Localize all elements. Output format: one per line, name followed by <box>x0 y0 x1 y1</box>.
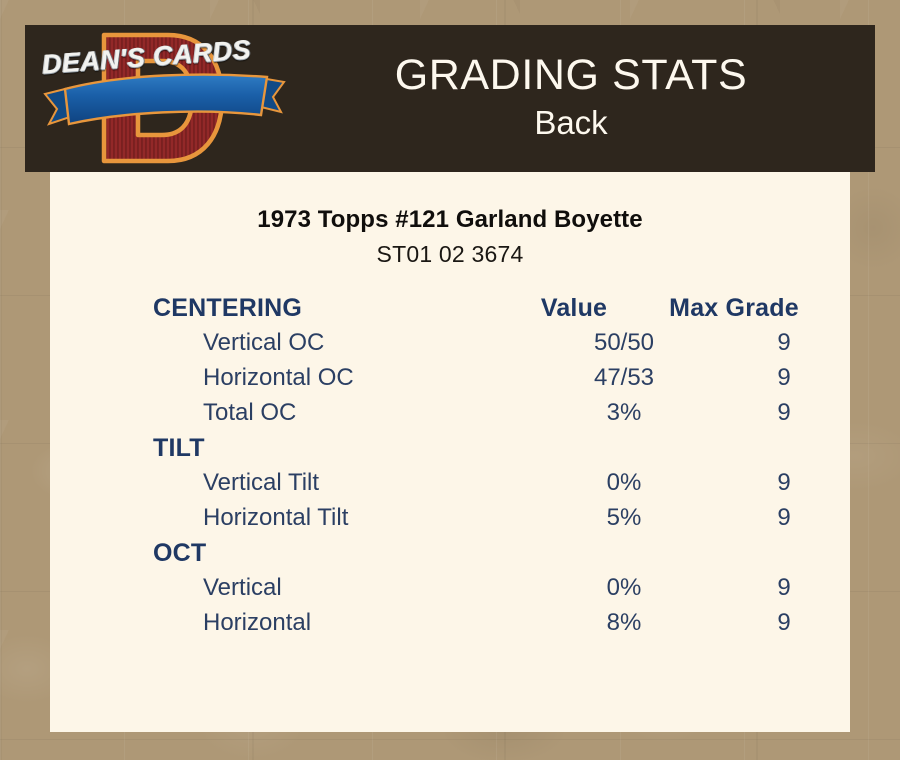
stats-row: Horizontal8%9 <box>153 609 798 644</box>
grading-stats-table: CENTERINGValueMax GradeVertical OC50/509… <box>50 294 850 644</box>
card-title: 1973 Topps #121 Garland Boyette <box>50 206 850 234</box>
card-heading: 1973 Topps #121 Garland Boyette ST01 02 … <box>50 172 850 268</box>
stats-row: Vertical OC50/509 <box>153 329 798 364</box>
stats-row: Vertical0%9 <box>153 574 798 609</box>
stats-row: Horizontal Tilt5%9 <box>153 504 798 539</box>
header-bar: DEAN'S CARDS GRADING STATS Back <box>25 25 875 172</box>
logo-banner-icon <box>43 72 286 134</box>
stat-label: Total OC <box>153 399 548 427</box>
stats-section-header: TILT <box>153 434 798 469</box>
header-title-block: GRADING STATS Back <box>293 50 875 148</box>
stat-label: Horizontal OC <box>153 364 548 392</box>
stat-max-grade: 9 <box>700 329 868 357</box>
stats-section-header: OCT <box>153 539 798 574</box>
column-header-value: Value <box>498 294 650 323</box>
section-label: CENTERING <box>153 294 498 323</box>
stat-max-grade: 9 <box>700 364 868 392</box>
stats-row: Horizontal OC47/539 <box>153 364 798 399</box>
stat-value: 50/50 <box>548 329 700 357</box>
stat-value: 0% <box>548 469 700 497</box>
stat-label: Vertical OC <box>153 329 548 357</box>
stat-max-grade: 9 <box>700 504 868 532</box>
page-title: GRADING STATS <box>293 50 849 100</box>
stat-value: 47/53 <box>548 364 700 392</box>
column-header-max-grade: Max Grade <box>650 294 818 323</box>
stat-max-grade: 9 <box>700 609 868 637</box>
section-label: OCT <box>153 539 498 568</box>
stat-max-grade: 9 <box>700 574 868 602</box>
stat-value: 5% <box>548 504 700 532</box>
card-serial-number: ST01 02 3674 <box>50 241 850 268</box>
stats-row: Total OC3%9 <box>153 399 798 434</box>
stat-label: Vertical <box>153 574 548 602</box>
content-panel: 1973 Topps #121 Garland Boyette ST01 02 … <box>50 172 850 732</box>
stat-value: 0% <box>548 574 700 602</box>
section-label: TILT <box>153 434 498 463</box>
stat-value: 8% <box>548 609 700 637</box>
stat-label: Vertical Tilt <box>153 469 548 497</box>
stat-label: Horizontal <box>153 609 548 637</box>
stats-section-header: CENTERINGValueMax Grade <box>153 294 798 329</box>
stat-max-grade: 9 <box>700 399 868 427</box>
stats-row: Vertical Tilt0%9 <box>153 469 798 504</box>
page-subtitle: Back <box>293 102 849 144</box>
stat-max-grade: 9 <box>700 469 868 497</box>
deans-cards-logo[interactable]: DEAN'S CARDS <box>25 25 293 172</box>
stat-value: 3% <box>548 399 700 427</box>
stat-label: Horizontal Tilt <box>153 504 548 532</box>
